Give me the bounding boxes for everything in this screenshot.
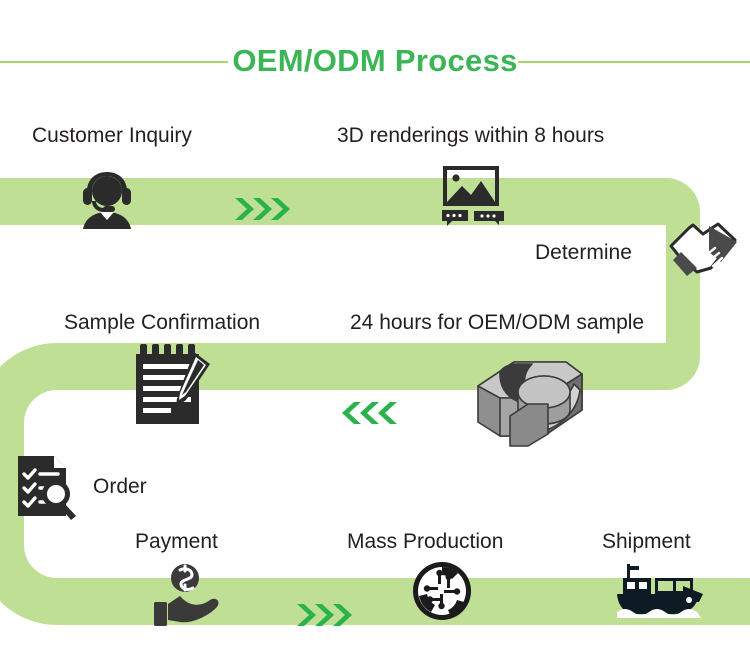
arrow-bottom xyxy=(295,602,353,633)
step-label-customer-inquiry: Customer Inquiry xyxy=(32,123,192,149)
handshake-icon xyxy=(663,216,741,288)
circuit-circle-icon xyxy=(411,560,473,622)
checklist-search-icon xyxy=(14,452,80,520)
step-label-determine: Determine xyxy=(535,240,632,266)
headset-agent-icon xyxy=(70,160,144,234)
step-label-3d-renderings: 3D renderings within 8 hours xyxy=(337,123,604,149)
step-label-oem-odm-sample: 24 hours for OEM/ODM sample xyxy=(350,310,644,336)
arrow-top xyxy=(233,196,291,227)
mold-core-3d-icon xyxy=(470,344,590,450)
chevrons-left-icon xyxy=(342,402,397,424)
arrow-middle xyxy=(341,400,399,431)
chevrons-right-icon xyxy=(235,198,290,220)
image-chat-icon xyxy=(438,164,508,228)
hand-coin-icon xyxy=(150,562,230,632)
infographic-canvas: OEM/ODM Process Customer Inquiry xyxy=(0,0,750,671)
step-label-sample-confirmation: Sample Confirmation xyxy=(64,310,260,336)
step-label-shipment: Shipment xyxy=(602,529,691,555)
step-label-payment: Payment xyxy=(135,529,218,555)
step-label-order: Order xyxy=(93,474,147,500)
cargo-ship-icon xyxy=(613,562,703,618)
chevrons-right-icon xyxy=(297,604,352,626)
step-label-mass-production: Mass Production xyxy=(347,529,503,555)
notepad-pen-icon xyxy=(130,338,222,430)
